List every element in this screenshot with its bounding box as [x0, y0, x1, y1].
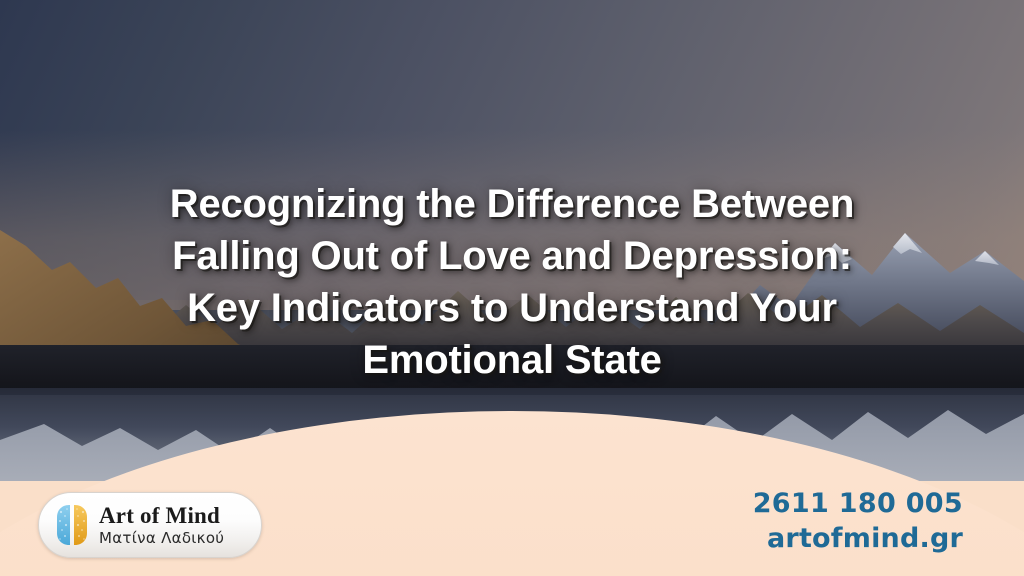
contact-phone[interactable]: 2611 180 005 [753, 487, 963, 521]
contact-block: 2611 180 005 artofmind.gr [753, 487, 963, 557]
logo-badge[interactable]: Art of Mind Ματίνα Λαδικού [38, 492, 262, 558]
logo-subtitle: Ματίνα Λαδικού [99, 531, 224, 546]
contact-website[interactable]: artofmind.gr [753, 521, 963, 557]
page-title: Recognizing the Difference Between Falli… [55, 178, 969, 386]
logo-text-group: Art of Mind Ματίνα Λαδικού [99, 504, 224, 546]
article-banner: Recognizing the Difference Between Falli… [0, 0, 1024, 576]
logo-brand: Art of Mind [99, 504, 224, 527]
brain-split-icon [53, 503, 91, 547]
title-block: Recognizing the Difference Between Falli… [0, 178, 1024, 386]
